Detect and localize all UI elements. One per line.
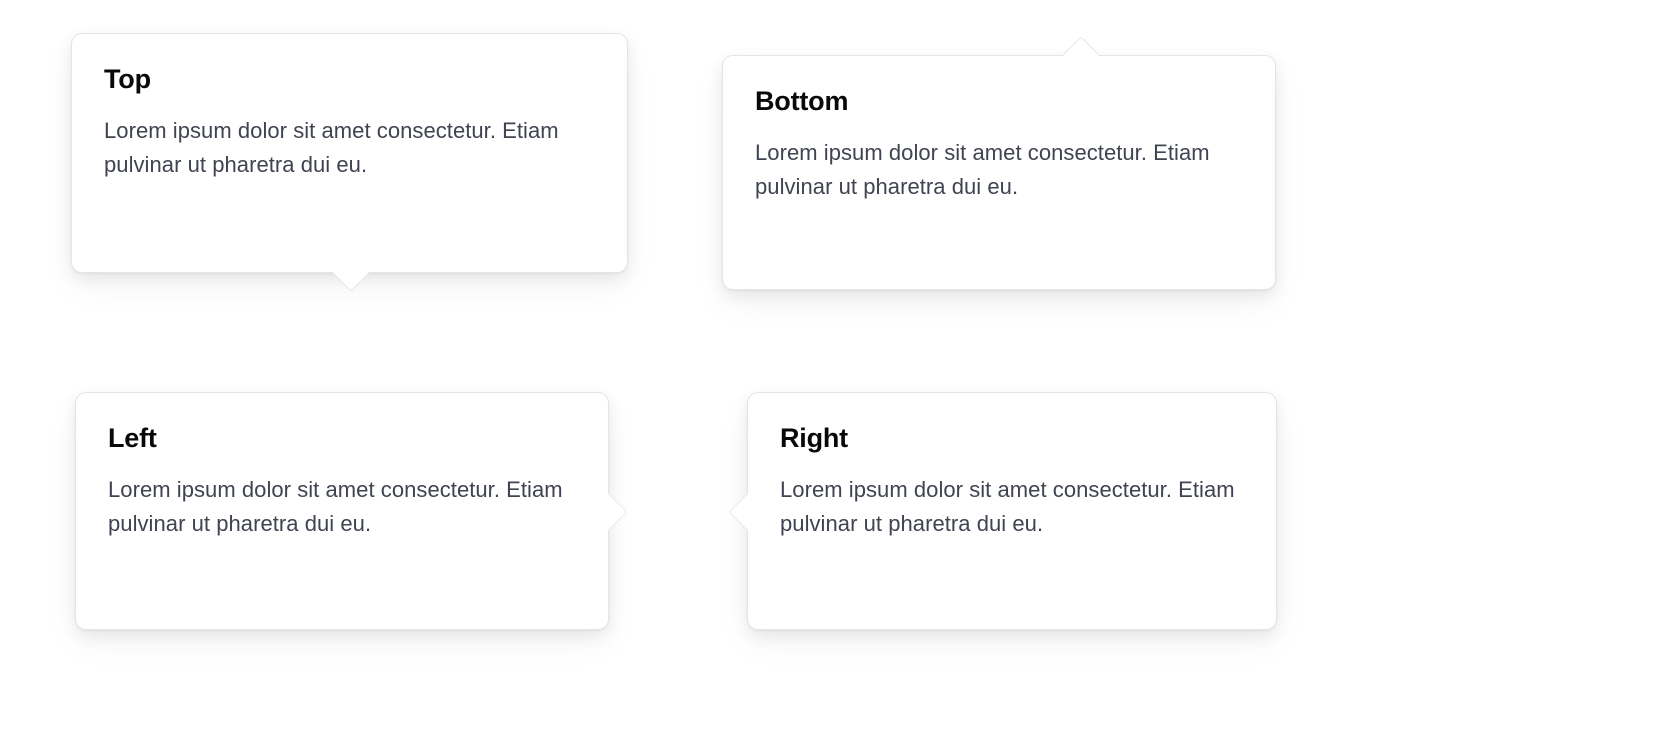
popover-title: Top [104, 64, 595, 96]
popover-body: Lorem ipsum dolor sit amet consectetur. … [104, 96, 595, 182]
caret-up-icon [1061, 36, 1101, 76]
popover-left[interactable]: Left Lorem ipsum dolor sit amet consecte… [75, 392, 609, 630]
popover-title: Right [780, 423, 1244, 455]
popover-title: Bottom [755, 86, 1243, 118]
popover-right[interactable]: Right Lorem ipsum dolor sit amet consect… [747, 392, 1277, 630]
popover-body: Lorem ipsum dolor sit amet consectetur. … [755, 118, 1243, 204]
caret-left-icon [728, 492, 768, 532]
popover-body: Lorem ipsum dolor sit amet consectetur. … [108, 455, 576, 541]
popover-showcase: Top Lorem ipsum dolor sit amet consectet… [0, 0, 1672, 740]
popover-title: Left [108, 423, 576, 455]
caret-right-icon [588, 492, 628, 532]
popover-bottom[interactable]: Bottom Lorem ipsum dolor sit amet consec… [722, 55, 1276, 290]
popover-body: Lorem ipsum dolor sit amet consectetur. … [780, 455, 1244, 541]
popover-top[interactable]: Top Lorem ipsum dolor sit amet consectet… [71, 33, 628, 273]
caret-down-icon [331, 252, 371, 292]
